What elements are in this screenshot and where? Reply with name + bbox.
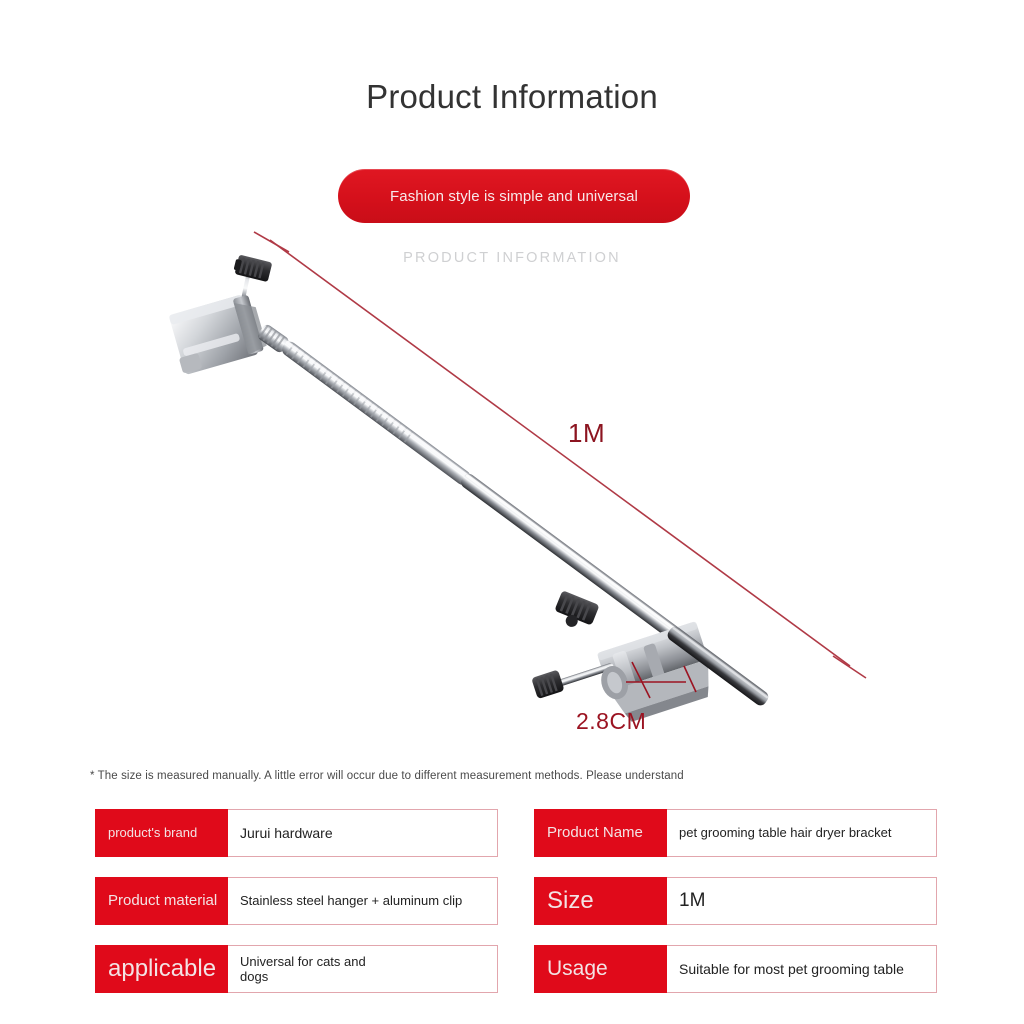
spec-column-left: product's brand Jurui hardware Product m… bbox=[95, 809, 498, 993]
measurement-disclaimer: * The size is measured manually. A littl… bbox=[90, 770, 684, 782]
table-row: Usage Suitable for most pet grooming tab… bbox=[534, 945, 937, 993]
lower-table-clamp bbox=[531, 590, 719, 725]
spec-label: applicable bbox=[95, 945, 228, 993]
table-row: product's brand Jurui hardware bbox=[95, 809, 498, 857]
product-information-page: Product Information Fashion style is sim… bbox=[0, 0, 1024, 1024]
spec-value: Suitable for most pet grooming table bbox=[667, 945, 937, 993]
spec-label: product's brand bbox=[95, 809, 228, 857]
tagline-badge: Fashion style is simple and universal bbox=[338, 169, 690, 223]
clamp-width-dimension-label: 2.8CM bbox=[576, 708, 646, 735]
page-title: Product Information bbox=[0, 78, 1024, 116]
spec-value: Stainless steel hanger + aluminum clip bbox=[228, 877, 498, 925]
spec-label: Product material bbox=[95, 877, 228, 925]
spec-value: pet grooming table hair dryer bracket bbox=[667, 809, 937, 857]
spec-label: Usage bbox=[534, 945, 667, 993]
gooseneck-section bbox=[279, 339, 473, 488]
spec-label: Size bbox=[534, 877, 667, 925]
table-row: Product Name pet grooming table hair dry… bbox=[534, 809, 937, 857]
spec-label: Product Name bbox=[534, 809, 667, 857]
spec-column-right: Product Name pet grooming table hair dry… bbox=[534, 809, 937, 993]
spec-value: 1M bbox=[667, 877, 937, 925]
table-row: applicable Universal for cats and dogs bbox=[95, 945, 498, 993]
upper-clamp-assembly bbox=[167, 254, 291, 376]
spec-value: Jurui hardware bbox=[228, 809, 498, 857]
table-row: Size 1M bbox=[534, 877, 937, 925]
spec-value: Universal for cats and dogs bbox=[228, 945, 498, 993]
tagline-badge-label: Fashion style is simple and universal bbox=[338, 169, 690, 223]
specification-table: product's brand Jurui hardware Product m… bbox=[95, 809, 937, 1009]
table-row: Product material Stainless steel hanger … bbox=[95, 877, 498, 925]
length-dimension-label: 1M bbox=[568, 418, 605, 449]
product-photo bbox=[150, 230, 910, 760]
